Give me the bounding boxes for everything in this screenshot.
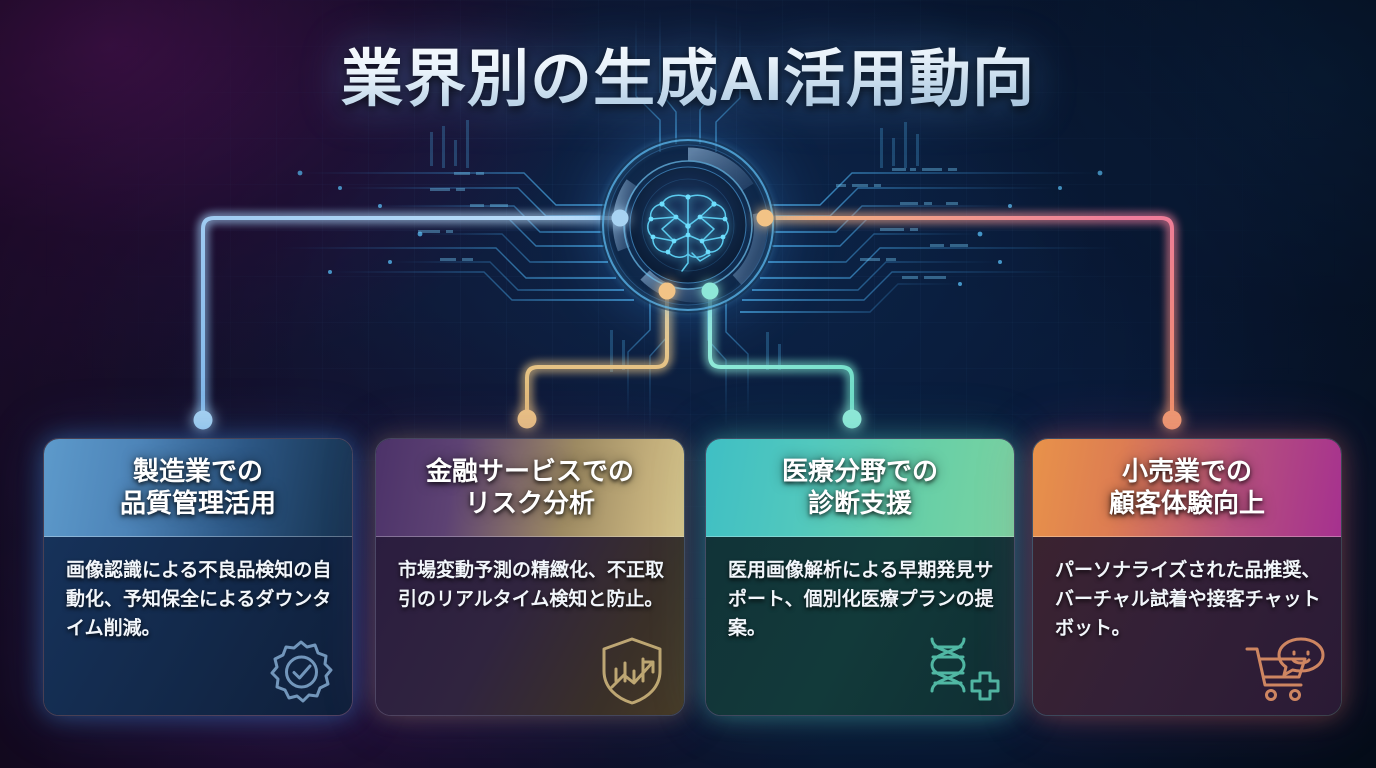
connector-retail-path: [765, 218, 1172, 412]
card-medical-title-line2: 診断支援: [808, 489, 912, 518]
card-medical-description: 医用画像解析による早期発見サポート、個別化医療プランの提案。: [728, 557, 994, 644]
central-ai-hub: [588, 125, 788, 325]
card-finance[interactable]: 金融サービスでの リスク分析 市場変動予測の精緻化、不正取引のリアルタイム検知と…: [375, 438, 685, 716]
card-manufacturing-title-line1: 製造業での: [133, 457, 263, 486]
card-manufacturing-title-line2: 品質管理活用: [120, 489, 276, 518]
dna-medical-cross-icon: [920, 633, 1000, 709]
card-finance-body: 市場変動予測の精緻化、不正取引のリアルタイム検知と防止。: [376, 537, 684, 716]
card-retail-body: パーソナライズされた品推奨、バーチャル試着や接客チャットボット。: [1033, 537, 1341, 716]
shopping-cart-chat-icon: [1243, 637, 1327, 709]
card-medical[interactable]: 医療分野での 診断支援 医用画像解析による早期発見サポート、個別化医療プランの提…: [705, 438, 1015, 716]
shield-chart-icon: [594, 633, 670, 709]
card-manufacturing[interactable]: 製造業での 品質管理活用 画像認識による不良品検知の自動化、予知保全によるダウン…: [43, 438, 353, 716]
title-container: 業界別の生成AI活用動向: [0, 28, 1376, 118]
card-retail[interactable]: 小売業での 顧客体験向上 パーソナライズされた品推奨、バーチャル試着や接客チャッ…: [1032, 438, 1342, 716]
card-medical-title-line1: 医療分野での: [782, 457, 938, 486]
connector-manufacturing-path: [203, 218, 620, 414]
page-title: 業界別の生成AI活用動向: [341, 28, 1035, 118]
connector-dot-retail: [1163, 411, 1182, 430]
card-medical-header: 医療分野での 診断支援: [706, 439, 1014, 537]
card-finance-header: 金融サービスでの リスク分析: [376, 439, 684, 537]
card-finance-description: 市場変動予測の精緻化、不正取引のリアルタイム検知と防止。: [398, 557, 664, 615]
connector-dot-medical: [843, 410, 862, 429]
card-retail-header: 小売業での 顧客体験向上: [1033, 439, 1341, 537]
card-manufacturing-header: 製造業での 品質管理活用: [44, 439, 352, 537]
card-manufacturing-body: 画像認識による不良品検知の自動化、予知保全によるダウンタイム削減。: [44, 537, 352, 716]
gear-check-icon: [264, 635, 338, 709]
card-retail-title-line2: 顧客体験向上: [1109, 489, 1265, 518]
connector-dot-finance: [518, 410, 537, 429]
card-manufacturing-description: 画像認識による不良品検知の自動化、予知保全によるダウンタイム削減。: [66, 557, 332, 644]
card-finance-title-line2: リスク分析: [465, 489, 595, 518]
card-retail-description: パーソナライズされた品推奨、バーチャル試着や接客チャットボット。: [1055, 557, 1321, 644]
card-medical-body: 医用画像解析による早期発見サポート、個別化医療プランの提案。: [706, 537, 1014, 716]
card-finance-title-line1: 金融サービスでの: [426, 457, 634, 486]
connector-dot-manufacturing: [194, 411, 213, 430]
card-retail-title-line1: 小売業での: [1122, 457, 1252, 486]
infographic-canvas: 業界別の生成AI活用動向: [0, 0, 1376, 768]
